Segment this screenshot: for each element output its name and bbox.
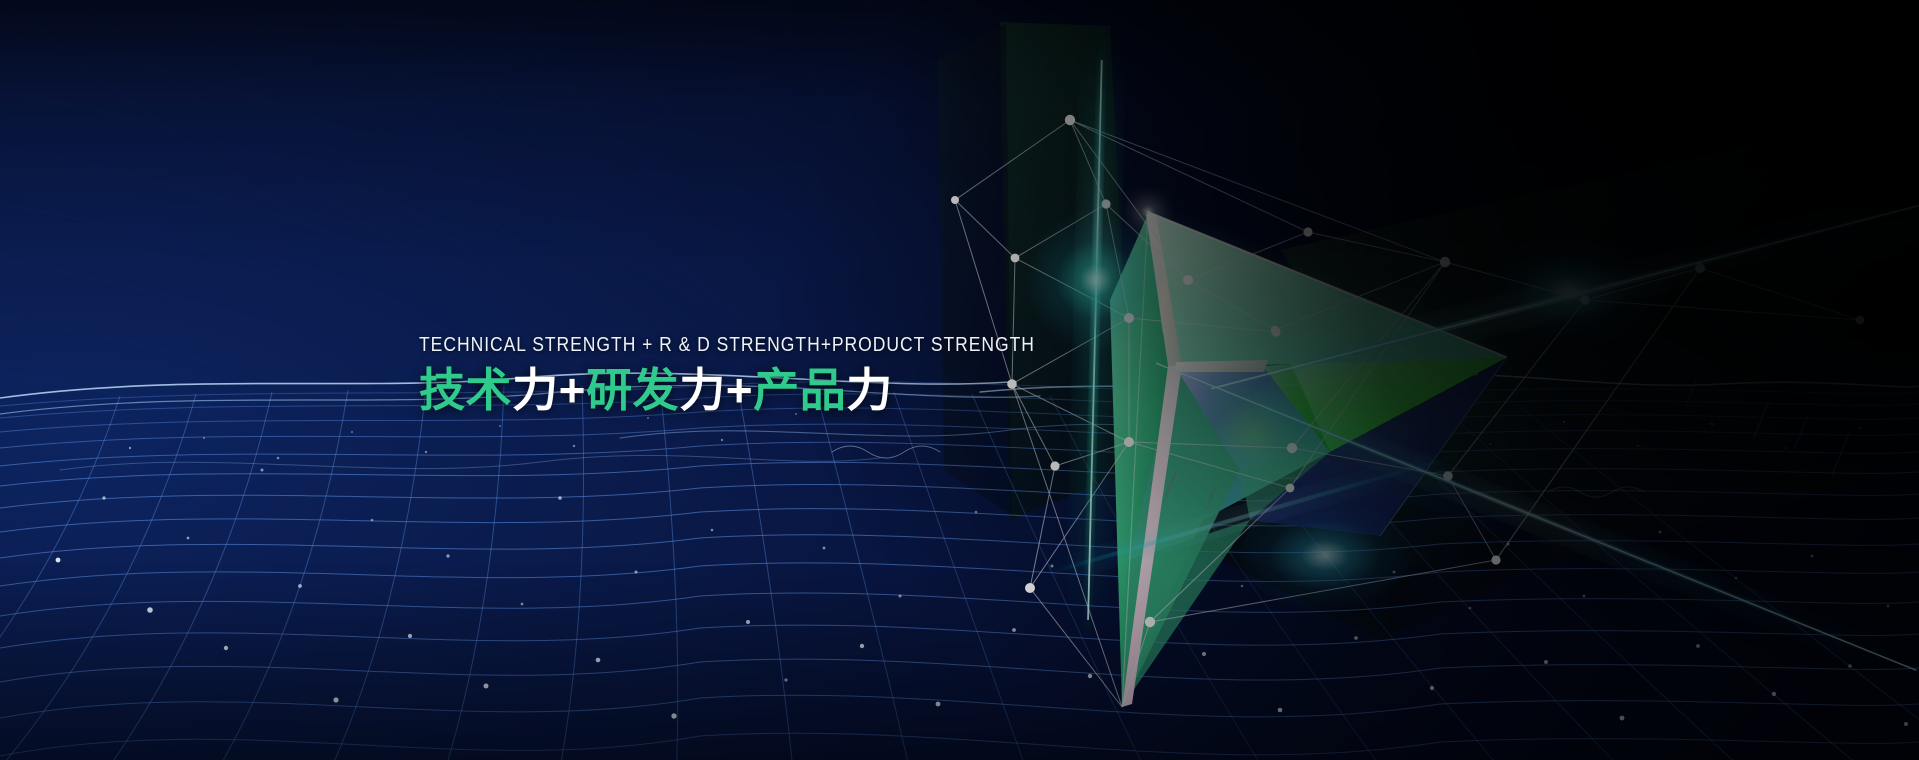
hero-triangular-arrow <box>0 0 1919 760</box>
right-darkening-overlay <box>0 0 1919 760</box>
headline-seg-0: 技术 <box>419 364 512 416</box>
glow-arrow-ambient <box>1130 250 1570 580</box>
flare-lower-beam <box>1240 500 1410 610</box>
network-constellation-nodes <box>0 0 1919 760</box>
network-constellation-lines <box>0 0 1919 760</box>
headline-seg-6: 产品 <box>753 364 846 416</box>
particle-dots <box>0 0 1919 760</box>
light-beams <box>0 0 1919 760</box>
headline-text: 技术力+研发力+产品力 <box>419 364 1059 417</box>
headline-seg-5: + <box>726 364 753 416</box>
headline-seg-7: 力 <box>846 364 893 416</box>
wireframe-wave-terrain <box>0 0 1919 760</box>
background-gradient <box>0 0 1919 760</box>
copy-block: TECHNICAL STRENGTH + R & D STRENGTH+PROD… <box>419 334 1059 417</box>
flare-vertical-beam <box>1026 210 1166 350</box>
sky-grid-mesh <box>0 0 1919 760</box>
hero-banner: TECHNICAL STRENGTH + R & D STRENGTH+PROD… <box>0 0 1919 760</box>
edge-vignette <box>0 0 1919 760</box>
flare-diagonal-beam <box>1480 236 1660 346</box>
headline-seg-3: 研发 <box>586 364 679 416</box>
headline-seg-2: + <box>559 364 586 416</box>
dark-polygon-facets <box>0 0 1919 760</box>
headline-seg-4: 力 <box>679 364 726 416</box>
headline-seg-1: 力 <box>512 364 559 416</box>
eyebrow-text: TECHNICAL STRENGTH + R & D STRENGTH+PROD… <box>419 334 966 357</box>
